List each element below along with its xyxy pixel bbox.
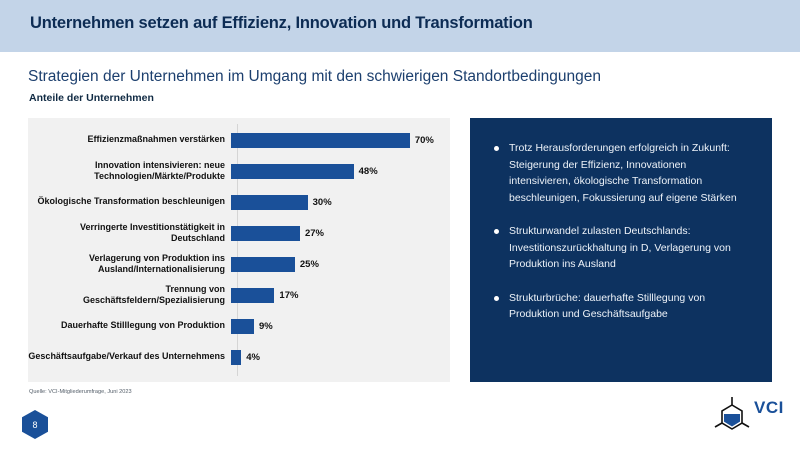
page-number: 8 — [22, 410, 48, 439]
insight-item: Strukturwandel zulasten Deutschlands: In… — [488, 223, 750, 273]
bar-value-label: 17% — [279, 290, 298, 301]
chart-title: Strategien der Unternehmen im Umgang mit… — [28, 68, 601, 86]
bar-track: 9% — [231, 313, 450, 339]
bar-row: Innovation intensivieren: neue Technolog… — [28, 158, 450, 184]
logo-text: VCI — [754, 398, 784, 418]
bullet-icon — [494, 296, 499, 301]
insights-panel: Trotz Herausforderungen erfolgreich in Z… — [470, 118, 772, 382]
insight-item: Trotz Herausforderungen erfolgreich in Z… — [488, 140, 750, 206]
bar — [231, 288, 274, 303]
header-band: Unternehmen setzen auf Effizienz, Innova… — [0, 0, 800, 52]
bar-value-label: 30% — [313, 197, 332, 208]
bar-value-label: 4% — [246, 352, 260, 363]
benzene-hexagon-icon — [712, 396, 752, 436]
bar-track: 30% — [231, 189, 450, 215]
bar-row: Dauerhafte Stilllegung von Produktion9% — [28, 313, 450, 339]
bar-value-label: 25% — [300, 259, 319, 270]
bar-value-label: 27% — [305, 228, 324, 239]
insight-text: Strukturbrüche: dauerhafte Stilllegung v… — [509, 290, 750, 323]
bar-category-label: Ökologische Transformation beschleunigen — [28, 196, 231, 208]
vci-logo: VCI — [712, 396, 788, 440]
bullet-icon — [494, 146, 499, 151]
bar — [231, 195, 308, 210]
bar-category-label: Effizienzmaßnahmen verstärken — [28, 134, 231, 146]
bar — [231, 133, 410, 148]
bar — [231, 257, 295, 272]
bar-track: 4% — [231, 344, 450, 370]
bar — [231, 350, 241, 365]
insight-text: Strukturwandel zulasten Deutschlands: In… — [509, 223, 750, 273]
page-number-badge: 8 — [22, 410, 48, 439]
insight-text: Trotz Herausforderungen erfolgreich in Z… — [509, 140, 750, 206]
bar-row: Ökologische Transformation beschleunigen… — [28, 189, 450, 215]
bar-category-label: Verlagerung von Produktion ins Ausland/I… — [28, 253, 231, 276]
bar-track: 17% — [231, 282, 450, 308]
bar-track: 48% — [231, 158, 450, 184]
bar-value-label: 9% — [259, 321, 273, 332]
bar-category-label: Verringerte Investitionstätigkeit in Deu… — [28, 222, 231, 245]
bar-row: Geschäftsaufgabe/Verkauf des Unternehmen… — [28, 344, 450, 370]
bar-track: 25% — [231, 251, 450, 277]
bar-category-label: Trennung von Geschäftsfeldern/Spezialisi… — [28, 284, 231, 307]
bar-row: Verringerte Investitionstätigkeit in Deu… — [28, 220, 450, 246]
bar — [231, 164, 354, 179]
bar-chart-panel: Effizienzmaßnahmen verstärken70%Innovati… — [28, 118, 450, 382]
bar-row: Effizienzmaßnahmen verstärken70% — [28, 127, 450, 153]
bullet-icon — [494, 229, 499, 234]
bar-row: Verlagerung von Produktion ins Ausland/I… — [28, 251, 450, 277]
bar-row: Trennung von Geschäftsfeldern/Spezialisi… — [28, 282, 450, 308]
chart-subtitle: Anteile der Unternehmen — [29, 92, 154, 104]
bar-category-label: Dauerhafte Stilllegung von Produktion — [28, 320, 231, 332]
bar-track: 70% — [231, 127, 450, 153]
page-title: Unternehmen setzen auf Effizienz, Innova… — [30, 14, 533, 33]
bar-track: 27% — [231, 220, 450, 246]
insight-item: Strukturbrüche: dauerhafte Stilllegung v… — [488, 290, 750, 323]
bar-category-label: Geschäftsaufgabe/Verkauf des Unternehmen… — [28, 351, 231, 363]
bar-value-label: 70% — [415, 135, 434, 146]
bar — [231, 226, 300, 241]
bar-value-label: 48% — [359, 166, 378, 177]
bar — [231, 319, 254, 334]
bar-category-label: Innovation intensivieren: neue Technolog… — [28, 160, 231, 183]
bar-chart-rows: Effizienzmaßnahmen verstärken70%Innovati… — [28, 118, 450, 382]
slide: Unternehmen setzen auf Effizienz, Innova… — [0, 0, 800, 450]
source-note: Quelle: VCI-Mitgliederumfrage, Juni 2023 — [29, 389, 132, 395]
